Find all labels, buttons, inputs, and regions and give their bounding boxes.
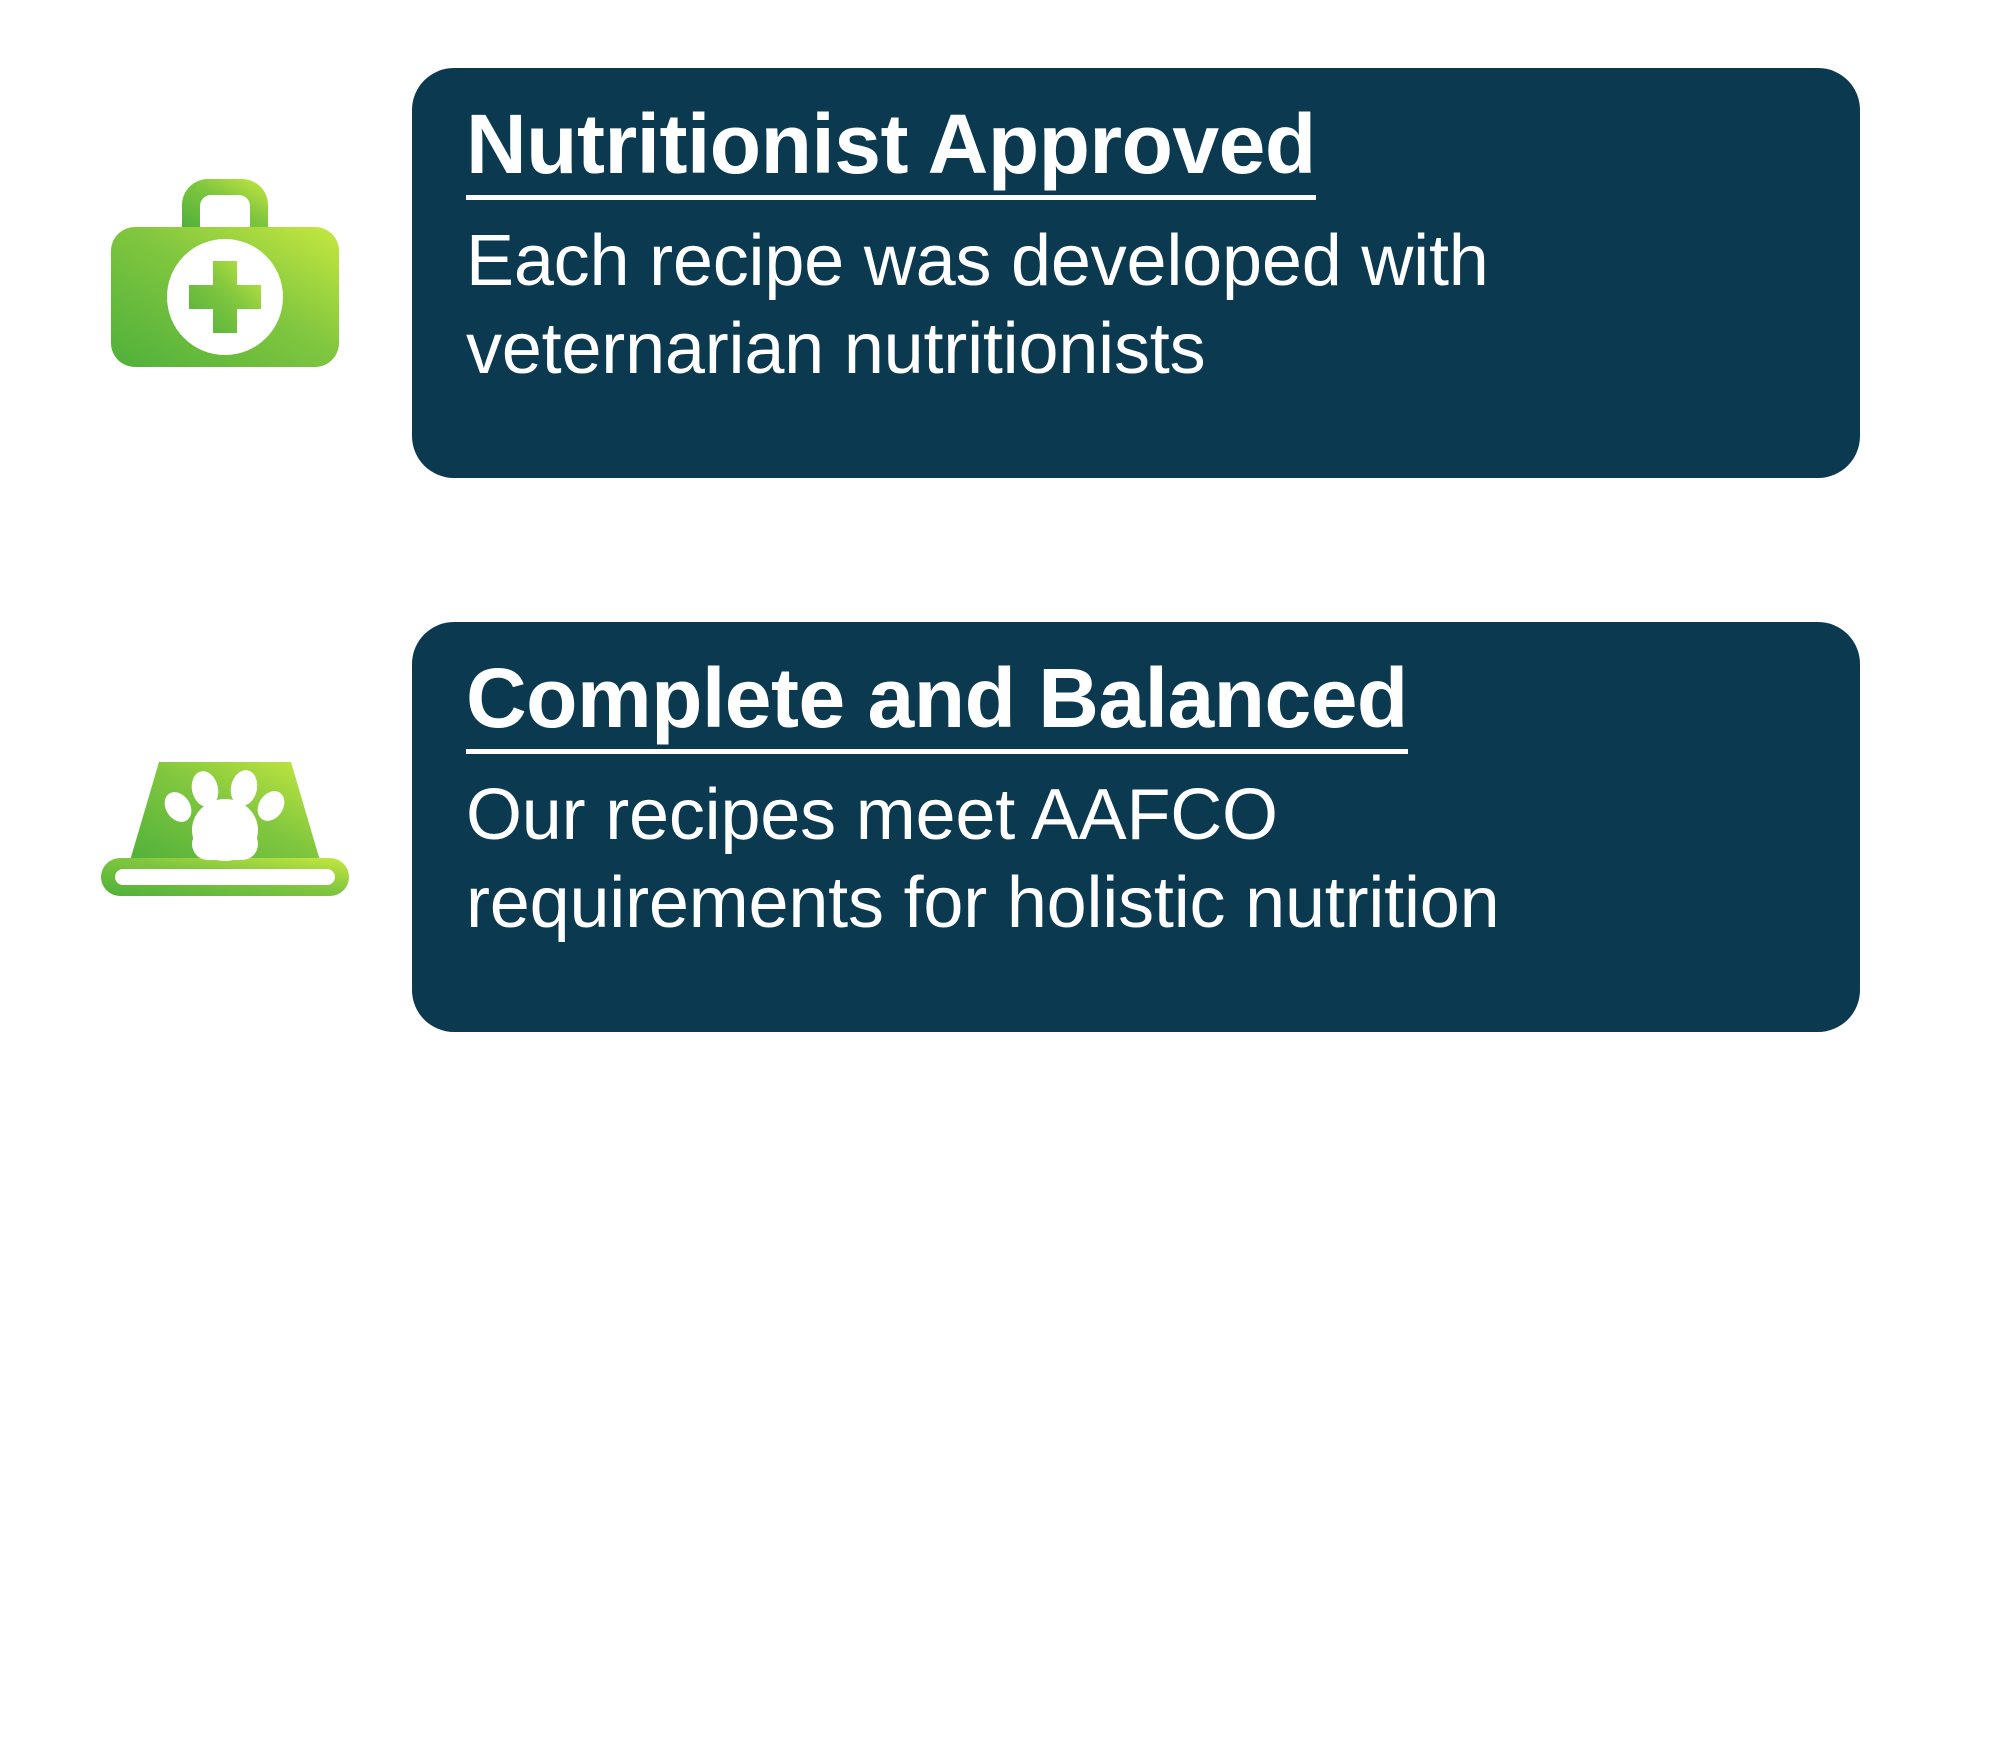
feature-body-line: Our recipes meet AAFCO [466,772,1804,860]
feature-row: Nutritionist Approved Each recipe was de… [0,68,2000,478]
feature-body: Our recipes meet AAFCO requirements for … [466,772,1804,948]
feature-heading: Nutritionist Approved [466,102,1316,200]
pet-bowl-paw-icon [95,622,355,1032]
feature-body: Each recipe was developed with veternari… [466,218,1804,394]
feature-list: Nutritionist Approved Each recipe was de… [0,0,2000,1750]
medical-bag-icon [95,68,355,478]
feature-row: Complete and Balanced Our recipes meet A… [0,622,2000,1032]
feature-card: Complete and Balanced Our recipes meet A… [412,622,1860,1032]
feature-heading: Complete and Balanced [466,656,1408,754]
feature-body-line: requirements for holistic nutrition [466,860,1804,948]
feature-card: Nutritionist Approved Each recipe was de… [412,68,1860,478]
feature-body-line: veternarian nutritionists [466,306,1804,394]
feature-body-line: Each recipe was developed with [466,218,1804,306]
